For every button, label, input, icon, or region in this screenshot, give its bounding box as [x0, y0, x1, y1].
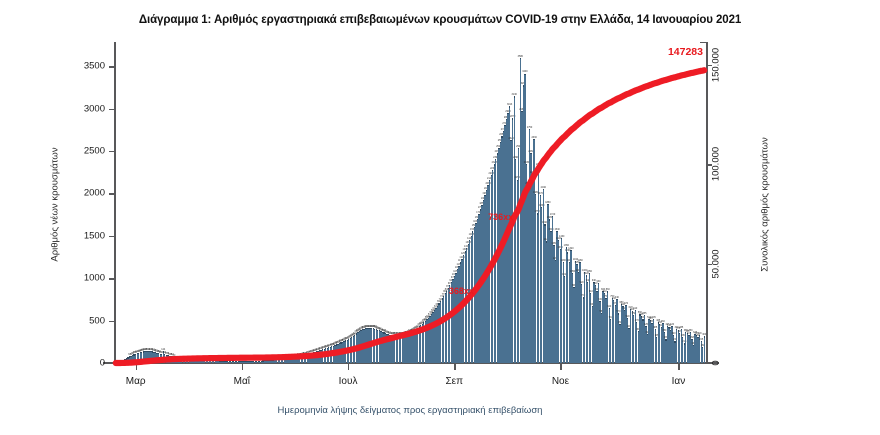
x-axis-tick	[242, 363, 243, 370]
y-axis-title-text: Αριθμός νέων κρουσμάτων	[50, 147, 61, 261]
y-axis-tick-label: 3000	[84, 103, 105, 114]
x-axis-title: Ημερομηνία λήψης δείγματος προς εργαστηρ…	[115, 405, 705, 416]
page-title: Διάγραμμα 1: Αριθμός εργαστηριακά επιβεβ…	[0, 14, 880, 26]
x-axis-tick-label: Ιαν	[672, 376, 686, 387]
plot-area: 0500100015002000250030003500 050.000100.…	[115, 45, 705, 363]
chart-figure: Διάγραμμα 1: Αριθμός εργαστηριακά επιβεβ…	[0, 0, 880, 435]
x-axis-tick-label: Μαρ	[126, 376, 146, 387]
y-axis-title: Αριθμός νέων κρουσμάτων	[48, 45, 62, 363]
y-axis-tick-label: 0	[100, 358, 105, 369]
x-axis-tick	[678, 363, 679, 370]
annotation-low-total: 368xx	[449, 286, 474, 296]
y-axis-tick-label: 1500	[84, 230, 105, 241]
annotation-final-total: 147283	[668, 46, 703, 58]
x-axis-tick	[560, 363, 561, 370]
annotation-mid-total: 736xx	[488, 212, 513, 222]
x-axis-tick	[454, 363, 455, 370]
y2-axis-title: Συνολικός αριθμός κρουσμάτων	[758, 45, 772, 363]
y-axis-tick-label: 2000	[84, 188, 105, 199]
y-axis-tick-label: 3500	[84, 61, 105, 72]
x-axis-tick-label: Νοε	[552, 376, 569, 387]
axis-spine-right	[706, 42, 708, 363]
y2-axis-tick-label: 150.000	[711, 48, 722, 82]
y-axis-tick-label: 500	[89, 315, 105, 326]
cumulative-line-path	[116, 70, 704, 363]
x-axis-tick	[348, 363, 349, 370]
axis-spine-right-cap-top	[700, 42, 707, 43]
y-axis-tick-label: 1000	[84, 273, 105, 284]
x-axis-tick-label: Ιουλ	[339, 376, 358, 387]
y2-axis-tick-label: 100.000	[711, 147, 722, 181]
x-axis-tick-label: Μαΐ	[234, 376, 250, 387]
y2-axis-tick-label: 50.000	[711, 249, 722, 278]
cumulative-line-series	[115, 45, 705, 363]
x-axis-tick-label: Σεπ	[445, 376, 463, 387]
y-axis-tick-label: 2500	[84, 146, 105, 157]
y2-axis-tick-label: 0	[711, 360, 722, 365]
y2-axis-title-text: Συνολικός αριθμός κρουσμάτων	[760, 137, 771, 271]
